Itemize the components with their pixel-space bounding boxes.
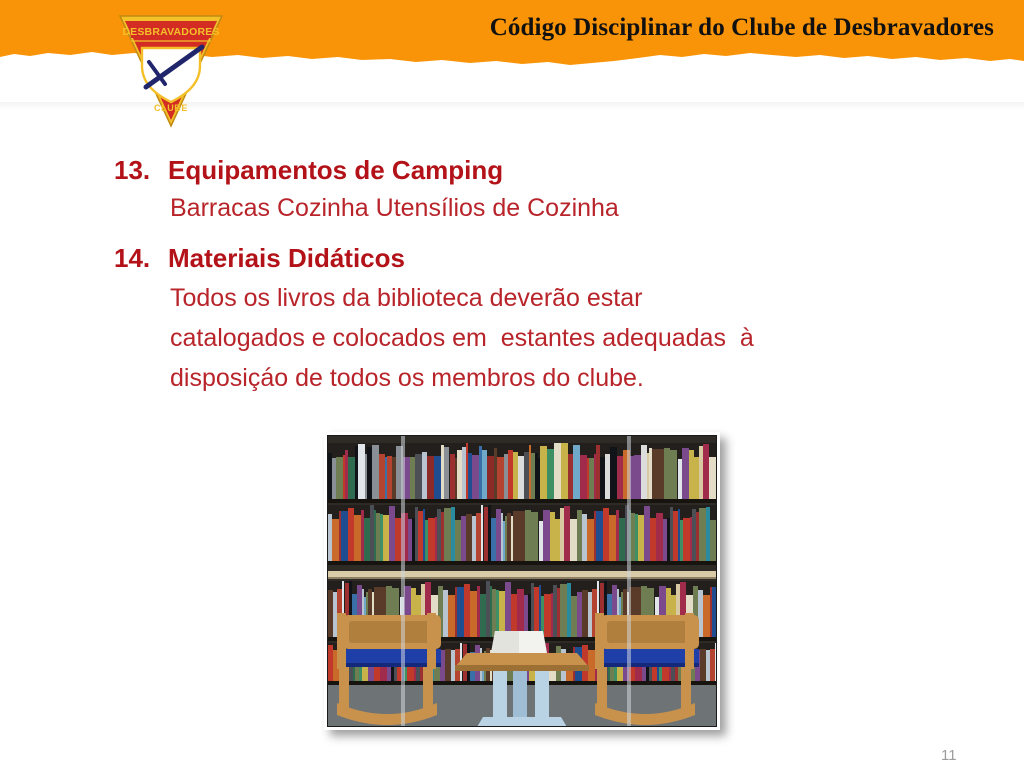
library-photo-frame	[324, 432, 720, 730]
body-line: Barracas Cozinha Utensílios de Cozinha	[170, 188, 970, 228]
library-bookshelves-photo	[327, 435, 717, 727]
list-item-heading: 14. Materiais Didáticos	[0, 240, 1024, 276]
list-item-title: Materiais Didáticos	[168, 240, 405, 276]
emblem-top-text: DESBRAVADORES	[122, 26, 219, 38]
list-item: 14. Materiais Didáticos Todos os livros …	[0, 240, 1024, 398]
body-line: Todos os livros da biblioteca deverão es…	[170, 278, 970, 318]
list-item-body: Todos os livros da biblioteca deverão es…	[170, 278, 970, 398]
list-item-number: 13.	[0, 152, 168, 188]
list-item: 13. Equipamentos de Camping Barracas Coz…	[0, 152, 1024, 228]
slide-content: 13. Equipamentos de Camping Barracas Coz…	[0, 152, 1024, 398]
list-item-heading: 13. Equipamentos de Camping	[0, 152, 1024, 188]
body-line: catalogados e colocados em estantes adeq…	[170, 318, 970, 358]
list-item-number: 14.	[0, 240, 168, 276]
emblem-bottom-text: CLUBE	[154, 103, 188, 113]
list-item-title: Equipamentos de Camping	[168, 152, 503, 188]
body-line: disposiçáo de todos os membros do clube.	[170, 358, 970, 398]
list-item-body: Barracas Cozinha Utensílios de Cozinha	[170, 188, 970, 228]
page-title: Código Disciplinar do Clube de Desbravad…	[490, 14, 994, 42]
page-number: 11	[941, 747, 957, 764]
desbravadores-club-emblem-icon: DESBRAVADORES CLUBE	[112, 8, 230, 130]
